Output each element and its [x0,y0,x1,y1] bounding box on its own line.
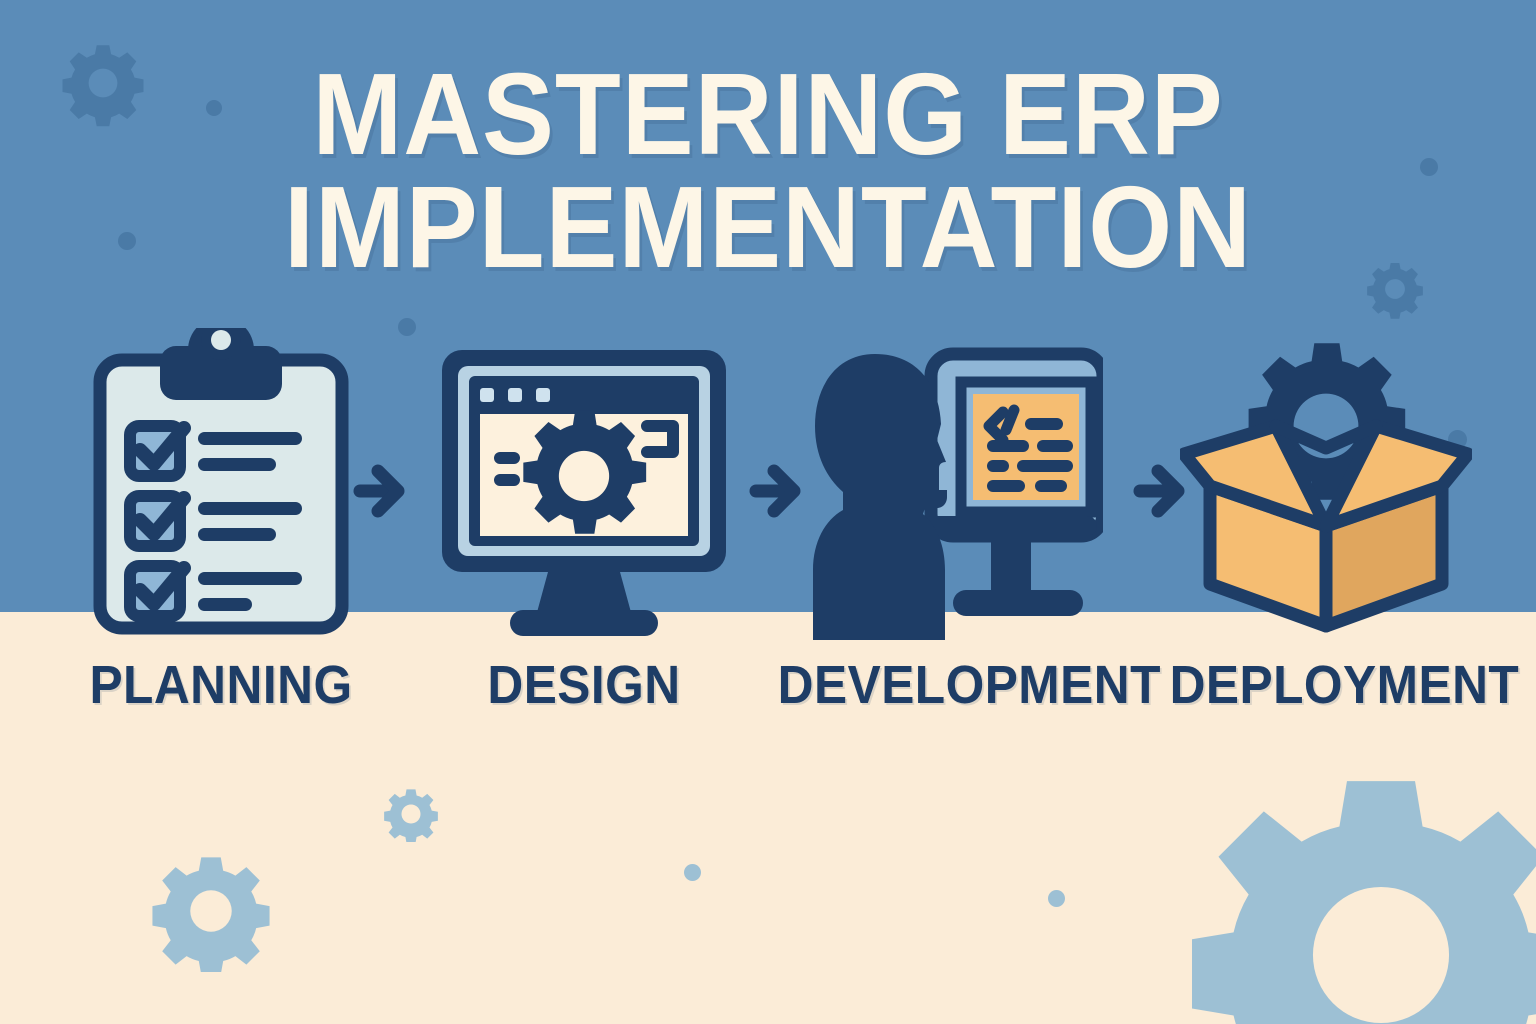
step-deployment[interactable]: DEPLOYMENT [1156,330,1496,716]
title-line-2: IMPLEMENTATION [54,171,1482,284]
step-deployment-label: DEPLOYMENT [1170,654,1483,716]
poster-title: MASTERING ERP IMPLEMENTATION [0,58,1536,283]
step-development-art [762,330,1154,640]
clipboard-checklist-icon [88,328,354,640]
step-design-label: DESIGN [440,654,727,716]
open-box-gear-icon [1180,330,1472,640]
step-development[interactable]: DEVELOPMENT [762,330,1154,716]
step-design-art [428,330,740,640]
developer-at-monitor-icon [813,340,1103,640]
poster-canvas: MASTERING ERP IMPLEMENTATION [0,0,1536,1024]
process-steps-row: PLANNING [0,330,1536,750]
title-line-1: MASTERING ERP [54,58,1482,171]
step-planning[interactable]: PLANNING [56,330,386,716]
step-development-label: DEVELOPMENT [778,654,1139,716]
step-planning-art [56,330,386,640]
step-deployment-art [1156,330,1496,640]
monitor-gear-icon [436,340,732,640]
step-planning-label: PLANNING [69,654,373,716]
step-design[interactable]: DESIGN [428,330,740,716]
